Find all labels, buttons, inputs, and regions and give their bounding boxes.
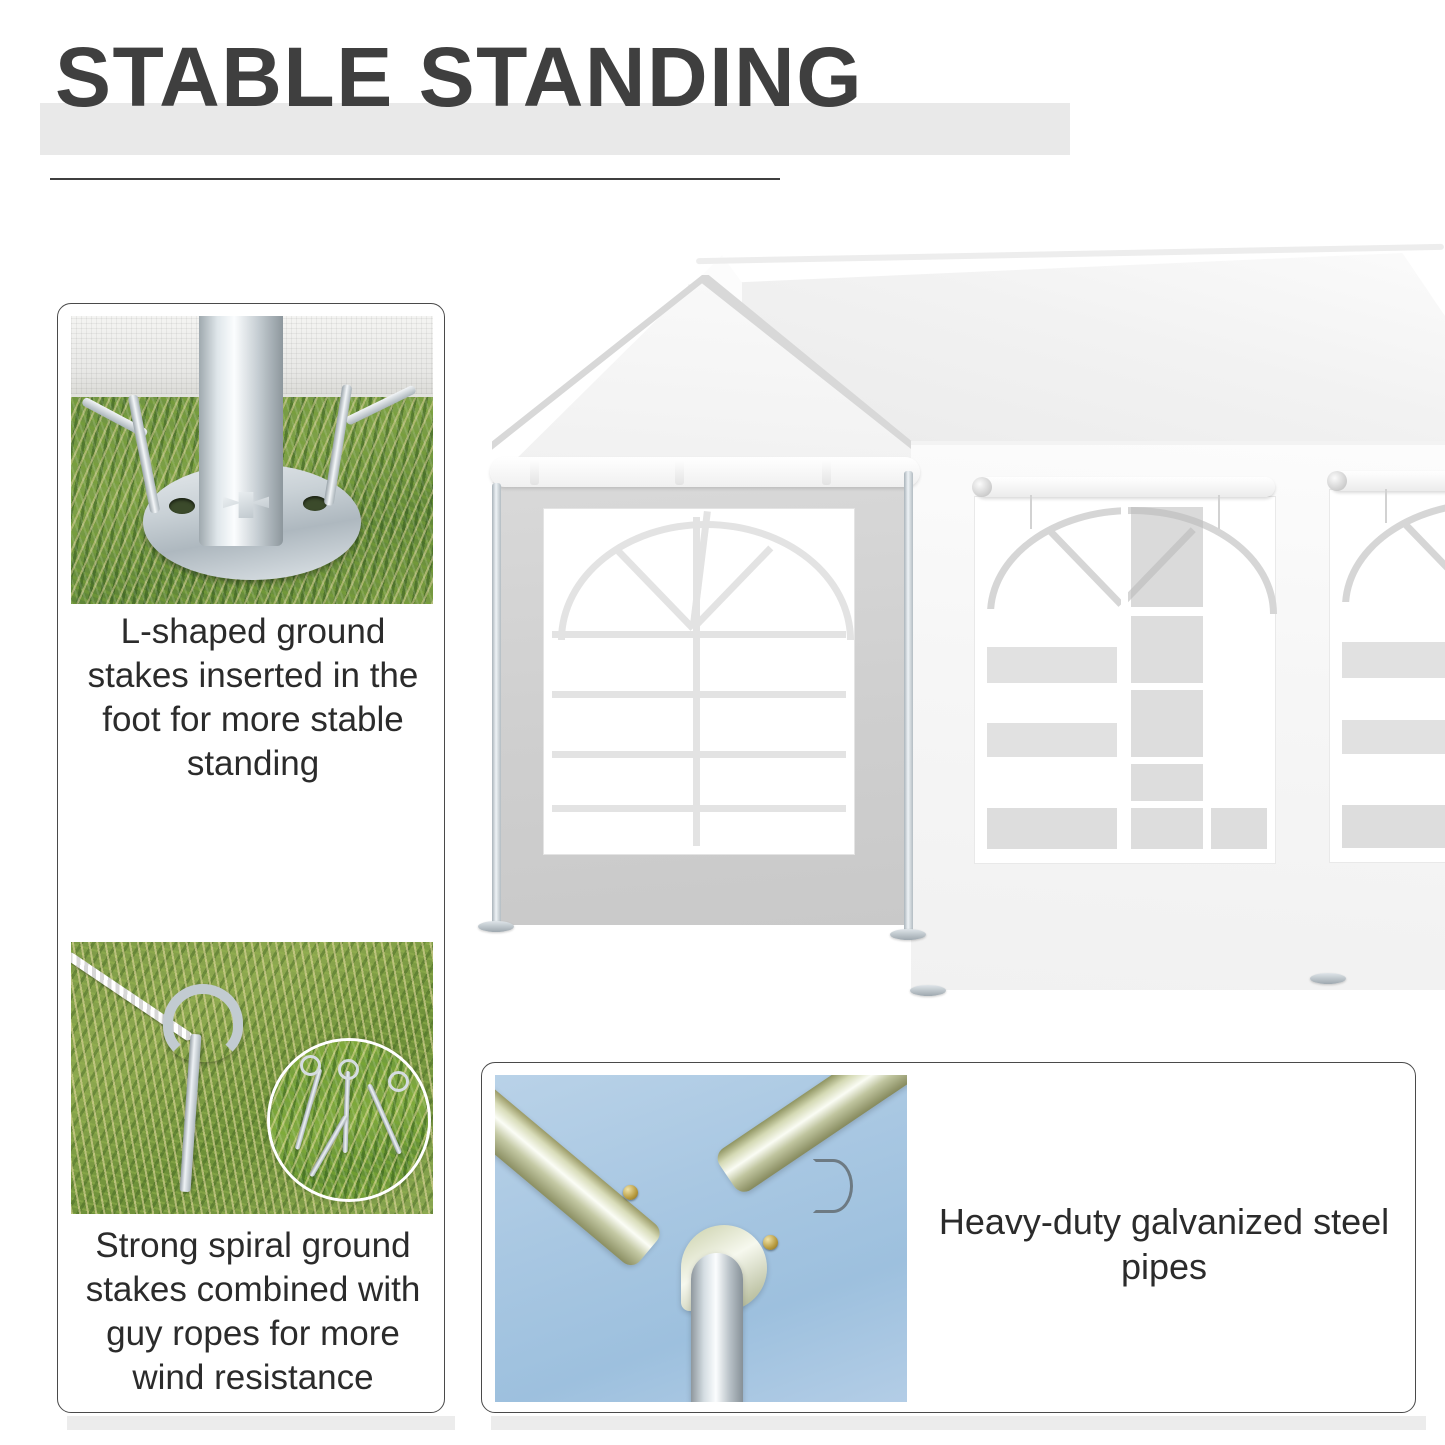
tent-leg-front-left: [492, 483, 501, 925]
caption-ground-stake-foot: L-shaped ground stakes inserted in the f…: [78, 610, 428, 786]
pipe-upper-right: [713, 1075, 907, 1196]
tent-foot-rear: [1310, 973, 1346, 984]
pipe-card-shadow: [491, 1416, 1426, 1430]
caption-spiral-stake-rope: Strong spiral ground stakes combined wit…: [74, 1224, 432, 1400]
galvanized-pipe-joint-photo: [495, 1075, 907, 1402]
valance-tie: [675, 459, 684, 485]
curtain-roll-cap: [1327, 471, 1347, 491]
spiral-stake-hook: [163, 984, 243, 1062]
tent-side-window-2: [1330, 490, 1445, 862]
valance-tie: [530, 459, 539, 485]
valance-tie: [822, 459, 831, 485]
page-title: STABLE STANDING: [55, 35, 1155, 119]
tent-foot-mid: [910, 985, 946, 996]
left-card-shadow: [67, 1416, 455, 1430]
title-underline-rule: [50, 178, 780, 180]
ground-stake-foot-photo: [71, 316, 433, 604]
bolt-icon: [623, 1185, 638, 1200]
rolled-curtain-2[interactable]: [1330, 471, 1445, 491]
tent-front-valance: [490, 457, 920, 487]
carport-tent-illustration: [470, 245, 1445, 1030]
l-shaped-stake-left: [83, 386, 183, 511]
pipe-upper-left: [495, 1075, 665, 1270]
pipe-vertical: [691, 1253, 743, 1402]
spiral-stake-rope-photo: [71, 942, 433, 1214]
header: STABLE STANDING: [0, 0, 1445, 240]
curtain-roll-cap: [972, 477, 992, 497]
tent-front-arched-window: [544, 509, 854, 854]
caption-galvanized-pipes: Heavy-duty galvanized steel pipes: [934, 1199, 1394, 1290]
tent-leg-front-right: [904, 471, 913, 933]
rolled-curtain-1[interactable]: [975, 477, 1275, 497]
l-shaped-stake-right: [299, 378, 419, 513]
pipe-clip-hook-icon: [813, 1159, 853, 1213]
pipe-feature-card: Heavy-duty galvanized steel pipes: [481, 1062, 1416, 1413]
tent-foot-front-left: [478, 921, 514, 932]
tent-foot-front-right: [890, 929, 926, 940]
stake-set-inset-circle: [267, 1038, 431, 1202]
tent-side-window-1: [975, 497, 1275, 863]
left-feature-card: L-shaped ground stakes inserted in the f…: [57, 303, 445, 1413]
bolt-icon: [763, 1235, 778, 1250]
